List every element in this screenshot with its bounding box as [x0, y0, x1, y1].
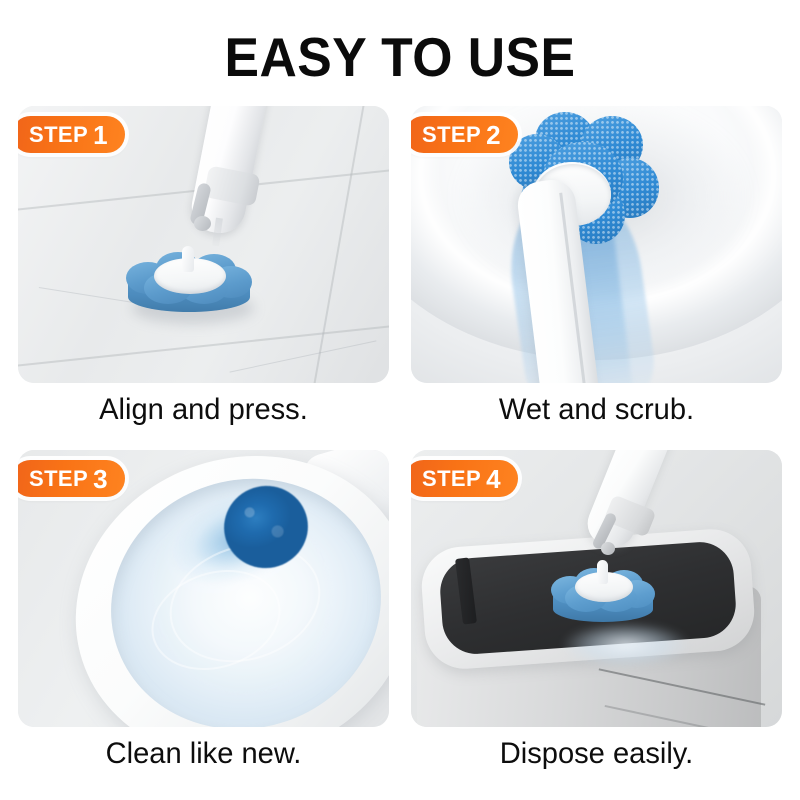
step-badge-number: 2	[486, 122, 500, 148]
step-caption-4: Dispose easily.	[417, 733, 777, 775]
step-image-3: STEP 3	[18, 450, 389, 727]
infographic-page: EASY TO USE	[0, 0, 800, 800]
step-caption-3: Clean like new.	[24, 733, 384, 775]
step-badge-number: 1	[93, 122, 107, 148]
step-badge-4: STEP 4	[411, 460, 518, 497]
step-badge-label: STEP	[29, 124, 88, 146]
water-bubbles	[230, 492, 300, 560]
step-card-1: STEP 1 Align and press.	[18, 106, 389, 450]
step-badge-1: STEP 1	[18, 116, 125, 153]
wand-clip-tip	[601, 542, 615, 555]
wand-clip-tip	[194, 216, 211, 231]
step-image-4: STEP 4	[411, 450, 782, 727]
step-badge-number: 4	[486, 466, 500, 492]
step-caption-1: Align and press.	[24, 389, 384, 431]
used-blue-pad	[551, 568, 655, 630]
step-badge-label: STEP	[422, 468, 481, 490]
blue-cleaning-pad	[126, 252, 252, 322]
step-badge-3: STEP 3	[18, 460, 125, 497]
step-caption-2: Wet and scrub.	[417, 389, 777, 431]
step-badge-2: STEP 2	[411, 116, 518, 153]
step-card-3: STEP 3 Clean like new.	[18, 450, 389, 794]
steps-grid: STEP 1 Align and press.	[18, 106, 782, 782]
step-badge-label: STEP	[29, 468, 88, 490]
step-card-4: STEP 4 Dispose easily.	[411, 450, 782, 794]
page-title: EASY TO USE	[24, 26, 776, 88]
step-badge-label: STEP	[422, 124, 481, 146]
step-image-1: STEP 1	[18, 106, 389, 383]
pad-center-stem	[182, 246, 194, 272]
pad-center-stem	[597, 560, 608, 584]
step-image-2: STEP 2	[411, 106, 782, 383]
step-card-2: STEP 2 Wet and scrub.	[411, 106, 782, 450]
step-badge-number: 3	[93, 466, 107, 492]
